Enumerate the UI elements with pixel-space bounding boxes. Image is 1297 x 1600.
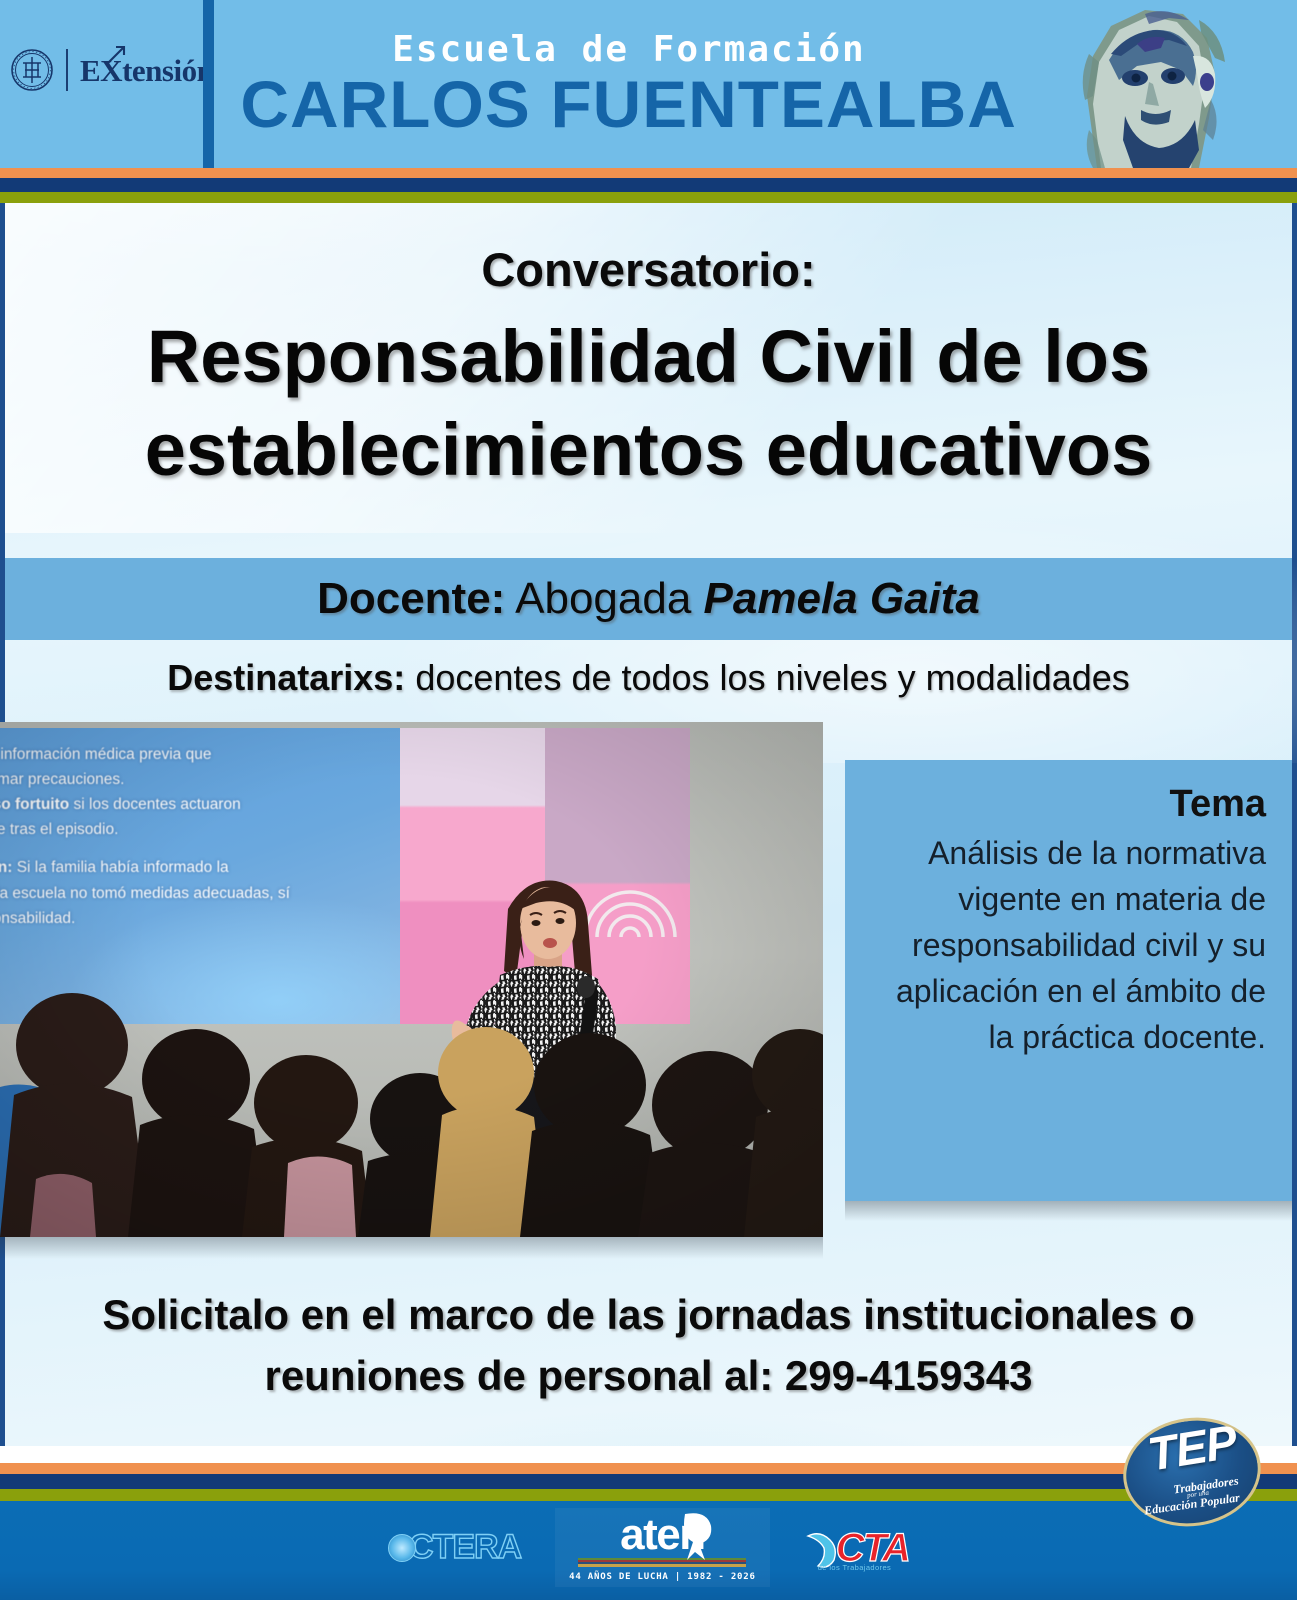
poster-header: EXtensión Escuela de Formación CARLOS FU… xyxy=(0,0,1297,168)
slide-line-7: ponsabilidad. xyxy=(0,906,404,931)
slide-line-5: ión: Si la familia había informado la xyxy=(0,855,404,880)
photo-drop-shadow xyxy=(0,1237,823,1259)
ctera-logo: CTERA xyxy=(388,1528,521,1567)
slide-line-4: nte tras el episodio. xyxy=(0,817,404,842)
stripe-olive-top xyxy=(0,192,1297,203)
tema-title: Tema xyxy=(865,784,1266,826)
event-kicker: Conversatorio: xyxy=(60,243,1237,297)
slide-line-3-bold: aso fortuito xyxy=(0,796,69,813)
event-title: Responsabilidad Civil de los establecimi… xyxy=(60,311,1237,496)
slide-text-gap xyxy=(0,842,404,855)
extension-word-text: EXtensión xyxy=(80,53,213,88)
tema-drop-shadow xyxy=(845,1201,1292,1221)
stripe-olive-bottom xyxy=(0,1489,1297,1501)
contact-call-to-action: Solicitalo en el marco de las jornadas i… xyxy=(0,1285,1297,1407)
event-photo: la información médica previa que tomar p… xyxy=(0,722,823,1237)
tep-logo: TEP Trabajadores por una Educación Popul… xyxy=(1123,1418,1261,1526)
ctera-wordmark: CTERA xyxy=(409,1528,521,1567)
cta-union-logo: CTA de los Trabajadores xyxy=(804,1526,909,1570)
header-vertical-divider xyxy=(203,0,214,168)
stripe-navy-bottom xyxy=(0,1474,1297,1489)
audience-label: Destinatarixs: xyxy=(167,657,405,699)
header-titles: Escuela de Formación CARLOS FUENTEALBA xyxy=(214,0,1014,168)
footer-logo-row: CTERA aten 44 AÑOS DE LUCHA | 1982 - 202… xyxy=(0,1501,1297,1600)
growth-arrow-icon xyxy=(103,43,129,69)
aten-wordmark-wrap: aten xyxy=(620,1514,704,1556)
school-label: Escuela de Formación xyxy=(392,31,865,69)
docente-band: Docente: Abogada Pamela Gaita xyxy=(5,558,1292,640)
school-name: CARLOS FUENTEALBA xyxy=(241,71,1018,137)
poster-footer: CTERA aten 44 AÑOS DE LUCHA | 1982 - 202… xyxy=(0,1501,1297,1600)
slide-line-5-bold: ión: xyxy=(0,859,12,876)
photo-slide-text: la información médica previa que tomar p… xyxy=(0,742,404,931)
aten-logo: aten 44 AÑOS DE LUCHA | 1982 - 2026 xyxy=(555,1508,770,1588)
cta-line-1: Solicitalo en el marco de las jornadas i… xyxy=(70,1285,1227,1346)
cta-union-wordmark: CTA xyxy=(836,1528,909,1568)
stripe-orange-top xyxy=(0,168,1297,178)
poster-root: EXtensión Escuela de Formación CARLOS FU… xyxy=(0,0,1297,1600)
aten-ribbon-icon xyxy=(677,1510,715,1562)
logo-divider xyxy=(66,49,68,91)
slide-line-2: tomar precauciones. xyxy=(0,767,404,792)
audience-line: Destinatarixs: docentes de todos los niv… xyxy=(0,640,1297,716)
docente-name: Pamela Gaita xyxy=(704,574,980,623)
tema-body: Análisis de la normativa vigente en mate… xyxy=(865,830,1266,1060)
slide-line-1: la información médica previa que xyxy=(0,742,404,767)
extension-logo: EXtensión xyxy=(10,48,213,92)
slide-line-5-rest: Si la familia había informado la xyxy=(12,859,228,876)
slide-line-6: y la escuela no tomó medidas adecuadas, … xyxy=(0,881,404,906)
aten-anniversary-label: 44 AÑOS DE LUCHA | 1982 - 2026 xyxy=(569,1572,756,1582)
docente-label: Docente: xyxy=(317,574,505,623)
ctera-dot-icon xyxy=(388,1534,416,1562)
slide-line-3: aso fortuito si los docentes actuaron xyxy=(0,792,404,817)
carlos-fuentealba-portrait xyxy=(1049,0,1259,168)
stripe-orange-bottom xyxy=(0,1463,1297,1474)
cta-line-2: reuniones de personal al: 299-4159343 xyxy=(70,1346,1227,1407)
extension-wordmark: EXtensión xyxy=(80,55,213,86)
event-title-line-1: Responsabilidad Civil de los xyxy=(60,311,1237,404)
tema-panel: Tema Análisis de la normativa vigente en… xyxy=(845,760,1292,1201)
extension-seal-icon xyxy=(10,48,54,92)
docente-text: Docente: Abogada Pamela Gaita xyxy=(317,577,980,621)
title-block: Conversatorio: Responsabilidad Civil de … xyxy=(0,203,1297,496)
slide-line-3-rest: si los docentes actuaron xyxy=(69,796,240,813)
aten-stripes-decoration xyxy=(578,1558,746,1567)
audience-value: docentes de todos los niveles y modalida… xyxy=(415,657,1129,699)
stripe-navy-top xyxy=(0,178,1297,192)
cta-union-sublabel: de los Trabajadores xyxy=(818,1563,891,1572)
photo-audience xyxy=(0,967,823,1237)
docente-role: Abogada xyxy=(515,574,691,623)
event-title-line-2: establecimientos educativos xyxy=(60,404,1237,497)
